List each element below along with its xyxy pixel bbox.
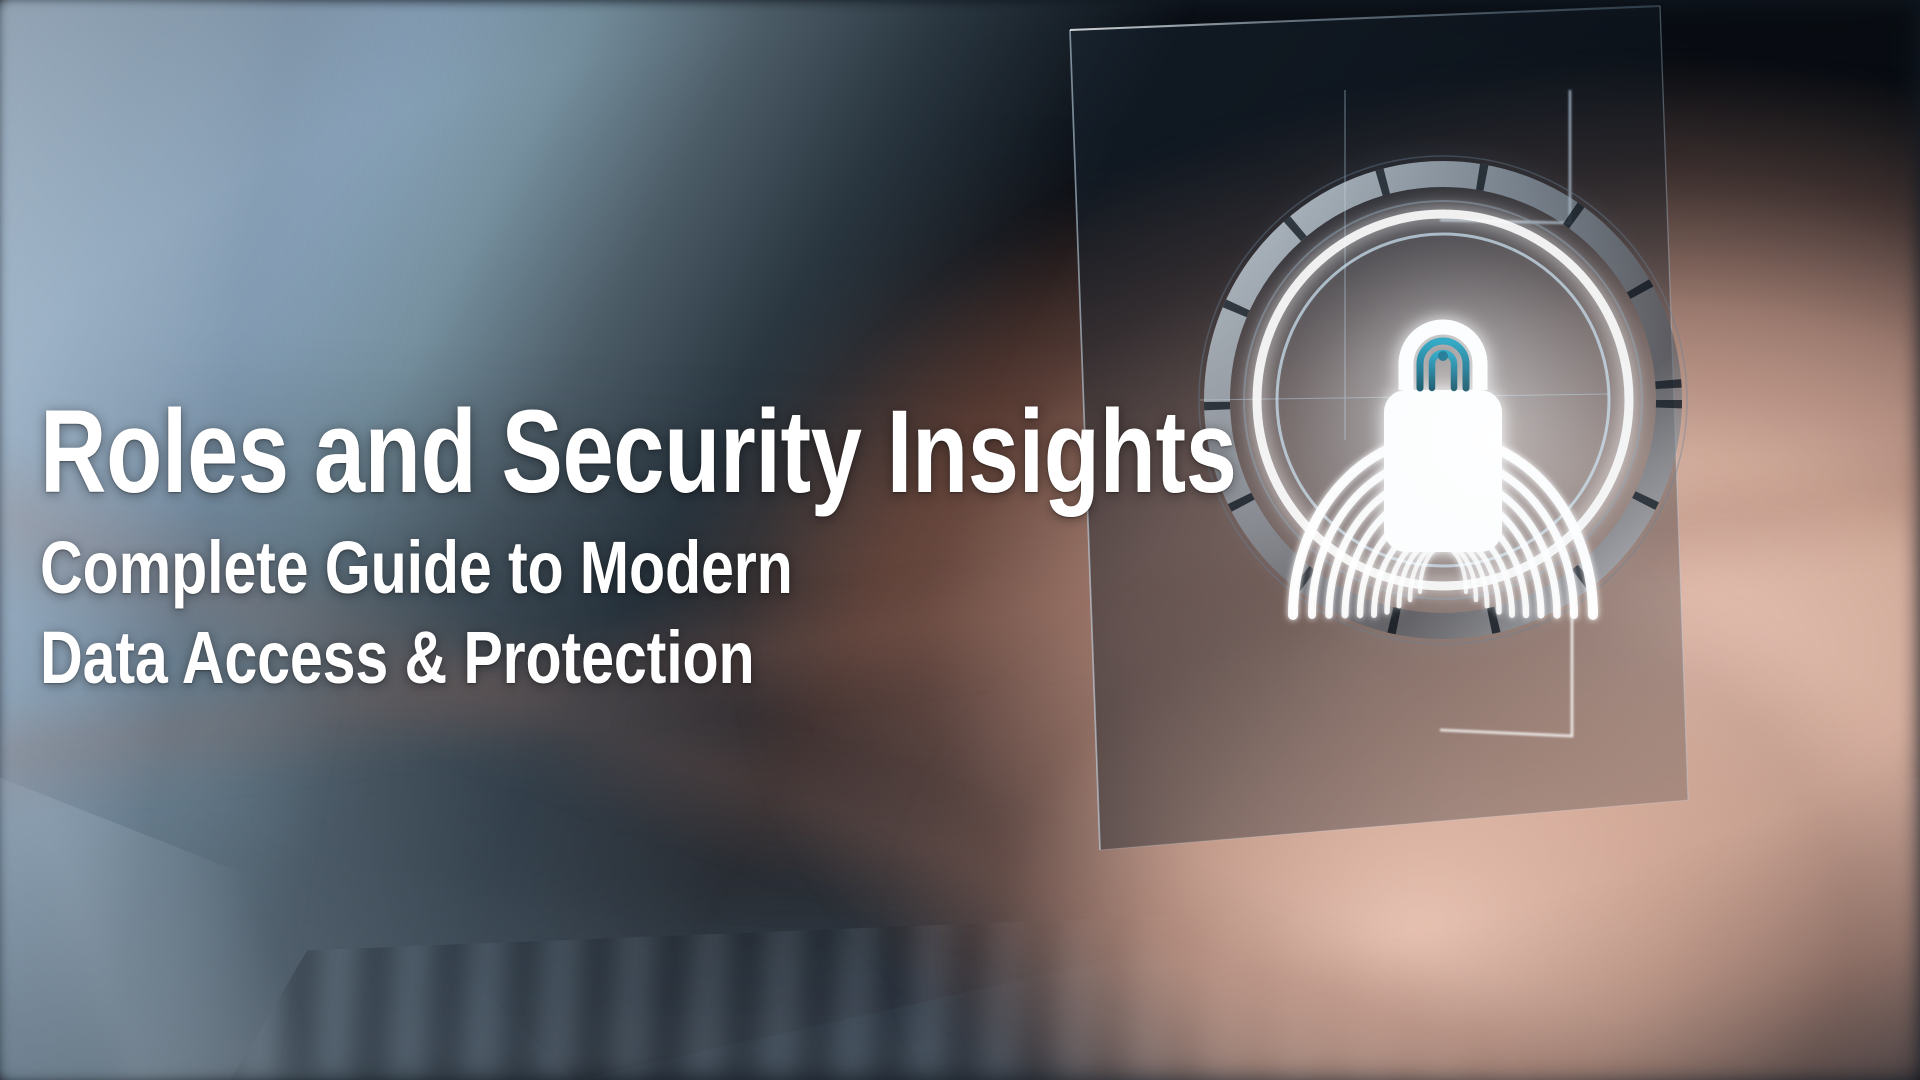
page-title: Roles and Security Insights	[40, 392, 960, 512]
subtitle-line-2: Data Access & Protection	[40, 616, 984, 700]
subtitle-line-1: Complete Guide to Modern	[40, 526, 984, 610]
banner-text-block: Roles and Security Insights Complete Gui…	[40, 392, 1220, 700]
hero-banner: Roles and Security Insights Complete Gui…	[0, 0, 1920, 1080]
